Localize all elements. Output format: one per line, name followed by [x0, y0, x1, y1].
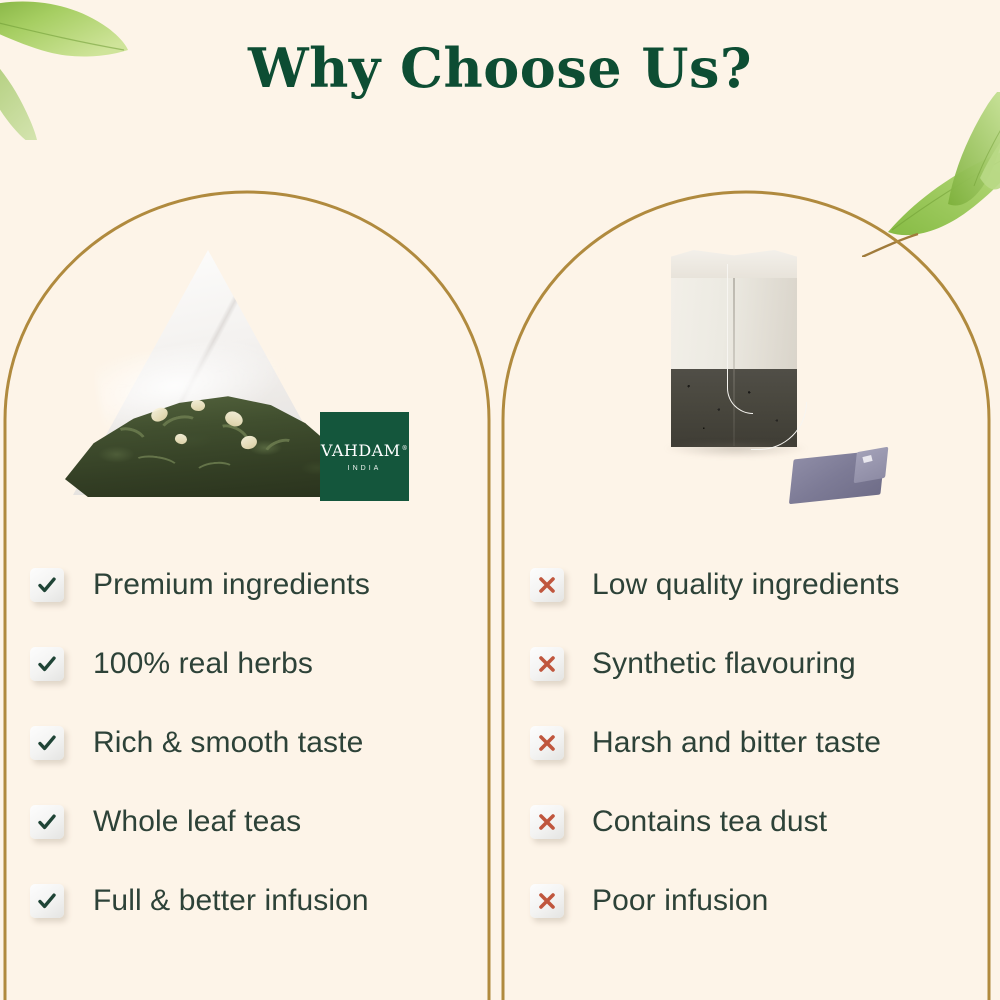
list-item: Whole leaf teas — [5, 782, 494, 861]
check-icon — [30, 726, 64, 760]
check-icon — [30, 884, 64, 918]
teabag-string — [727, 264, 753, 414]
vahdam-logo-badge: VAHDAM® INDIA — [320, 412, 409, 501]
list-item: Synthetic flavouring — [503, 624, 993, 703]
feature-label: Full & better infusion — [93, 884, 369, 918]
feature-label: Premium ingredients — [93, 568, 370, 602]
list-item: Poor infusion — [503, 861, 993, 940]
pyramid-teabag-illustration: VAHDAM® INDIA — [73, 250, 343, 505]
teabag-shadow — [665, 442, 807, 458]
check-icon — [30, 805, 64, 839]
cross-icon — [530, 647, 564, 681]
feature-label: Rich & smooth taste — [93, 726, 363, 760]
column-others: Low quality ingredients Synthetic flavou… — [503, 195, 993, 1000]
cross-icon — [530, 726, 564, 760]
list-item: Full & better infusion — [5, 861, 494, 940]
list-item: Premium ingredients — [5, 545, 494, 624]
cross-icon — [530, 884, 564, 918]
check-icon — [30, 647, 64, 681]
registered-mark: ® — [402, 445, 409, 452]
feature-label: Low quality ingredients — [592, 568, 900, 602]
brand-subtitle: INDIA — [348, 465, 382, 472]
feature-label: Contains tea dust — [592, 805, 827, 839]
check-icon — [30, 568, 64, 602]
list-item: Low quality ingredients — [503, 545, 993, 624]
list-item: Rich & smooth taste — [5, 703, 494, 782]
feature-list-vahdam: Premium ingredients 100% real herbs Rich… — [5, 545, 494, 940]
brand-name: VAHDAM® — [321, 441, 408, 460]
feature-label: Harsh and bitter taste — [592, 726, 881, 760]
column-vahdam: VAHDAM® INDIA Premium ingredients 100% r… — [5, 195, 494, 1000]
page-title: Why Choose Us? — [0, 40, 1000, 97]
product-image-others — [503, 195, 993, 525]
cross-icon — [530, 568, 564, 602]
list-item: Contains tea dust — [503, 782, 993, 861]
feature-label: 100% real herbs — [93, 647, 313, 681]
list-item: 100% real herbs — [5, 624, 494, 703]
feature-label: Poor infusion — [592, 884, 768, 918]
feature-label: Whole leaf teas — [93, 805, 301, 839]
feature-list-others: Low quality ingredients Synthetic flavou… — [503, 545, 993, 940]
teabag-tag-fold — [854, 447, 889, 484]
paper-teabag-illustration — [643, 250, 943, 510]
list-item: Harsh and bitter taste — [503, 703, 993, 782]
why-choose-us-infographic: Why Choose Us? — [0, 0, 1000, 1000]
cross-icon — [530, 805, 564, 839]
feature-label: Synthetic flavouring — [592, 647, 856, 681]
product-image-vahdam: VAHDAM® INDIA — [5, 195, 494, 525]
